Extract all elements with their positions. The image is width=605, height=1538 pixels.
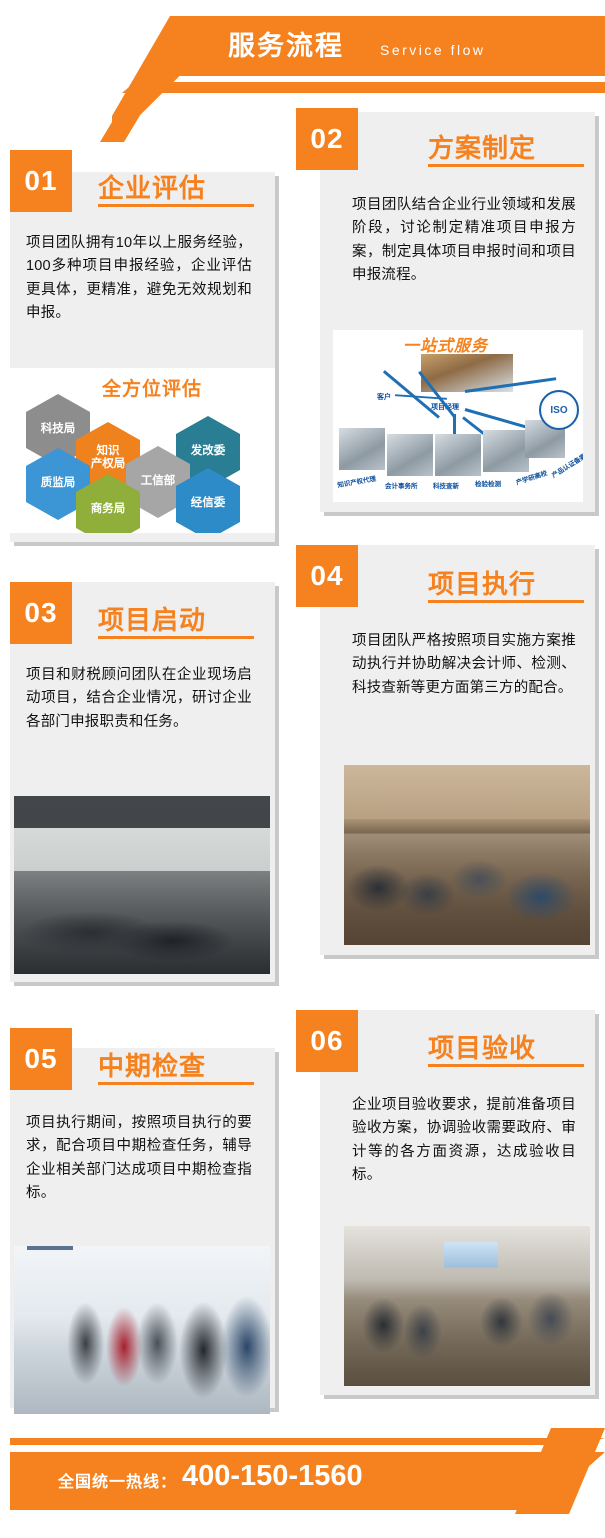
step-title-rule-03	[98, 636, 254, 639]
one-stop-node-label-1: 知识产权代理	[336, 473, 376, 490]
acceptance-meeting-photo	[344, 1226, 590, 1386]
step-number-01: 01	[10, 150, 72, 212]
header-thin-stripe	[122, 82, 605, 93]
step-number-03: 03	[10, 582, 72, 644]
step-title-02: 方案制定	[428, 128, 536, 165]
page-footer: 全国统一热线： 400-150-1560	[0, 1420, 605, 1538]
hexagon-assessment-diagram: 全方位评估 科技局 知识 产权局 发改委 质监局 工信部 经信委 商务局	[10, 368, 275, 533]
one-stop-node-photo-1	[339, 428, 385, 470]
one-stop-service-diagram: 一站式服务 客户 项目经理 ISO 知识产权代理 会计事务所 科技查新 检验检测…	[333, 330, 583, 502]
step-number-04: 04	[296, 545, 358, 607]
step-title-rule-06	[428, 1064, 584, 1067]
step-title-05: 中期检查	[98, 1046, 206, 1083]
exhibition-visit-photo	[14, 1246, 270, 1414]
one-stop-node-photo-2	[387, 434, 433, 476]
step-body-05: 项目执行期间，按照项目执行的要求，配合项目中期检查任务，辅导企业相关部门达成项目…	[26, 1112, 252, 1206]
page-header: 服务流程 Service flow	[0, 0, 605, 108]
one-stop-node-photo-3	[435, 434, 481, 476]
step-title-rule-01	[98, 204, 254, 207]
step-title-01: 企业评估	[98, 168, 206, 205]
hotline-phone: 400-150-1560	[182, 1460, 363, 1493]
step-title-04: 项目执行	[428, 564, 536, 601]
step-title-rule-04	[428, 600, 584, 603]
step-body-04: 项目团队严格按照项目实施方案推动执行并协助解决会计师、检测、科技查新等更方面第三…	[352, 630, 576, 700]
one-stop-node-label-2: 会计事务所	[385, 480, 418, 490]
meeting-laptops-photo	[344, 765, 590, 945]
one-stop-node-photo-4	[483, 430, 529, 472]
step-number-02: 02	[296, 108, 358, 170]
hotline-label: 全国统一热线：	[58, 1468, 177, 1492]
one-stop-node-label-3: 科技查新	[433, 480, 459, 490]
step-title-03: 项目启动	[98, 600, 206, 637]
step-title-rule-05	[98, 1082, 254, 1085]
step-body-01: 项目团队拥有10年以上服务经验，100多种项目申报经验，企业评估更具体，更精准，…	[26, 232, 252, 326]
step-title-rule-02	[428, 164, 584, 167]
iso-seal-icon: ISO	[539, 390, 579, 430]
step-number-05: 05	[10, 1028, 72, 1090]
page-title: 服务流程	[228, 24, 344, 68]
one-stop-diagram-title: 一站式服务	[403, 332, 488, 356]
step-title-06: 项目验收	[428, 1028, 536, 1065]
conference-room-photo	[14, 796, 270, 974]
footer-thin-stripe	[10, 1438, 605, 1445]
step-number-06: 06	[296, 1010, 358, 1072]
step-body-03: 项目和财税顾问团队在企业现场启动项目，结合企业情况，研讨企业各部门申报职责和任务…	[26, 664, 252, 734]
step-body-02: 项目团队结合企业行业领域和发展阶段，讨论制定精准项目申报方案，制定具体项目申报时…	[352, 194, 576, 288]
one-stop-client-label: 客户	[377, 392, 391, 402]
one-stop-node-label-4: 检验检测	[475, 478, 501, 488]
page-subtitle: Service flow	[380, 35, 485, 65]
step-body-06: 企业项目验收要求，提前准备项目验收方案，协调验收需要政府、审计等的各方面资源，达…	[352, 1094, 576, 1188]
hexagon-diagram-title: 全方位评估	[102, 374, 202, 401]
